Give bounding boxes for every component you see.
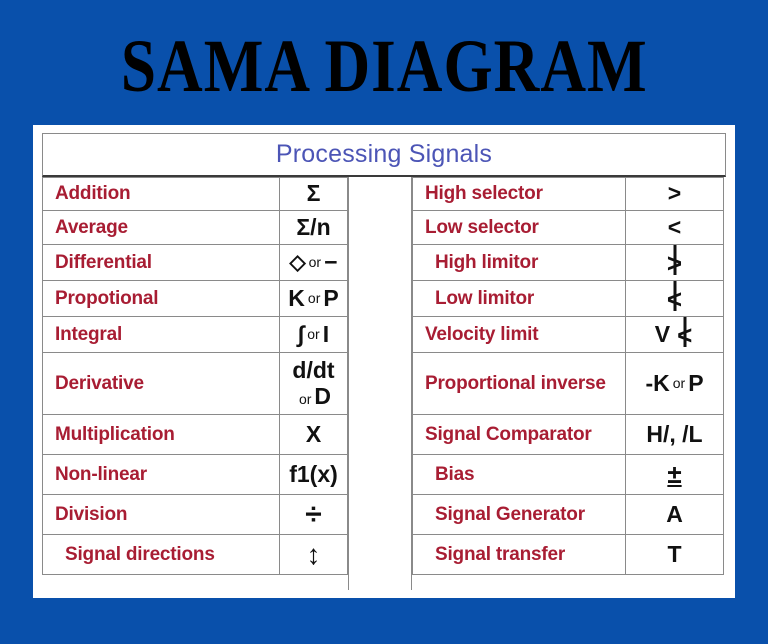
symbol-text: T xyxy=(667,542,681,567)
symbol-text-alt: D xyxy=(314,383,331,409)
row-label: Addition xyxy=(43,178,279,210)
row-label: High limitor xyxy=(413,245,625,280)
diagram-panel: Processing Signals Addition Σ Average Σ/ xyxy=(33,125,735,598)
table-row[interactable]: Bias ± xyxy=(412,455,724,495)
symbol-conjunction: or xyxy=(296,391,314,407)
symbol-text: ◇ xyxy=(289,251,305,274)
row-label: Differential xyxy=(43,245,279,280)
divide-symbol: ÷ xyxy=(279,495,347,534)
table-row[interactable]: Division ÷ xyxy=(42,495,348,535)
sigma-over-n-symbol: Σ/n xyxy=(279,211,347,244)
row-label: Low selector xyxy=(413,211,625,244)
d-dt-or-d-symbol: d/dt orD xyxy=(279,353,347,414)
h-l-comparator-symbol: H/, /L xyxy=(625,415,723,454)
page-title-text: SAMA DIAGRAM xyxy=(121,24,648,109)
symbol-text: > xyxy=(665,250,684,276)
symbol-conjunction: or xyxy=(670,376,688,391)
symbol-text: V xyxy=(655,322,670,347)
symbol-text: ÷ xyxy=(305,500,321,530)
table-row[interactable]: Derivative d/dt orD xyxy=(42,353,348,415)
table-row[interactable]: Differential ◇ or − xyxy=(42,245,348,281)
table-row[interactable]: Low selector < xyxy=(412,211,724,245)
row-label: Proportional inverse xyxy=(413,353,625,414)
f1x-symbol: f1(x) xyxy=(279,455,347,494)
table-row[interactable]: Low limitor < xyxy=(412,281,724,317)
row-label: Signal Comparator xyxy=(413,415,625,454)
a-symbol: A xyxy=(625,495,723,534)
multiply-symbol: X xyxy=(279,415,347,454)
row-label: Multiplication xyxy=(43,415,279,454)
symbol-text: Σ/n xyxy=(296,215,330,240)
symbol-text: d/dt xyxy=(292,358,334,383)
row-label: Velocity limit xyxy=(413,317,625,352)
symbol-text: K xyxy=(288,286,305,311)
neg-k-or-p-symbol: -K or P xyxy=(625,353,723,414)
v-struck-less-than-symbol: V < xyxy=(625,317,723,352)
sigma-symbol: Σ xyxy=(279,178,347,210)
table-header-label: Processing Signals xyxy=(276,140,492,169)
table-row[interactable]: High limitor > xyxy=(412,245,724,281)
row-label: Signal directions xyxy=(43,535,279,574)
integral-or-i-symbol: ∫ or I xyxy=(279,317,347,352)
table-row[interactable]: Velocity limit V < xyxy=(412,317,724,353)
symbol-text: A xyxy=(666,502,683,527)
table-row[interactable]: Multiplication X xyxy=(42,415,348,455)
symbol-text-alt: I xyxy=(323,322,329,347)
table-row[interactable]: High selector > xyxy=(412,177,724,211)
symbol-text: Σ xyxy=(307,181,321,206)
table-body: Addition Σ Average Σ/n Differential xyxy=(42,177,726,590)
row-label: Low limitor xyxy=(413,281,625,316)
symbol-text: ↕ xyxy=(307,541,321,569)
greater-than-symbol: > xyxy=(625,178,723,210)
table-row[interactable]: Propotional K or P xyxy=(42,281,348,317)
symbol-text: ± xyxy=(667,460,681,489)
symbol-text-alt: P xyxy=(688,371,703,396)
table-row[interactable]: Non-linear f1(x) xyxy=(42,455,348,495)
row-label: Derivative xyxy=(43,353,279,414)
row-label: Signal Generator xyxy=(413,495,625,534)
symbol-text-alt: − xyxy=(324,250,337,275)
page-root: SAMA DIAGRAM Processing Signals Addition… xyxy=(0,0,768,644)
left-column: Addition Σ Average Σ/n Differential xyxy=(42,177,348,590)
row-label: Non-linear xyxy=(43,455,279,494)
table-row[interactable]: Signal directions ↕ xyxy=(42,535,348,575)
row-label: Signal transfer xyxy=(413,535,625,574)
table-row[interactable]: Integral ∫ or I xyxy=(42,317,348,353)
page-title: SAMA DIAGRAM xyxy=(0,24,768,94)
table-row[interactable]: Signal Generator A xyxy=(412,495,724,535)
sama-symbol-table: Processing Signals Addition Σ Average Σ/ xyxy=(42,133,726,592)
struck-greater-than-symbol: > xyxy=(625,245,723,280)
symbol-conjunction: or xyxy=(304,327,322,342)
symbol-text-alt: P xyxy=(323,286,338,311)
table-row[interactable]: Average Σ/n xyxy=(42,211,348,245)
struck-less-than-symbol: < xyxy=(625,281,723,316)
up-down-arrow-symbol: ↕ xyxy=(279,535,347,574)
diamond-or-minus-symbol: ◇ or − xyxy=(279,245,347,280)
symbol-text: f1(x) xyxy=(289,462,338,487)
plus-minus-symbol: ± xyxy=(625,455,723,494)
row-label: Average xyxy=(43,211,279,244)
t-symbol: T xyxy=(625,535,723,574)
row-label: Division xyxy=(43,495,279,534)
symbol-conjunction: or xyxy=(306,255,324,270)
symbol-text: X xyxy=(306,422,321,447)
less-than-symbol: < xyxy=(625,211,723,244)
symbol-text: < xyxy=(668,215,681,240)
row-label: Integral xyxy=(43,317,279,352)
symbol-text-alt: < xyxy=(675,322,694,348)
table-row[interactable]: Proportional inverse -K or P xyxy=(412,353,724,415)
symbol-text: H/, /L xyxy=(646,422,702,447)
right-column: High selector > Low selector < High limi… xyxy=(412,177,724,590)
table-row[interactable]: Signal transfer T xyxy=(412,535,724,575)
row-label: High selector xyxy=(413,178,625,210)
symbol-conjunction: or xyxy=(305,291,323,306)
row-label: Bias xyxy=(413,455,625,494)
table-row[interactable]: Addition Σ xyxy=(42,177,348,211)
table-header: Processing Signals xyxy=(42,133,726,177)
row-label: Propotional xyxy=(43,281,279,316)
symbol-text: -K xyxy=(645,371,669,396)
k-or-p-symbol: K or P xyxy=(279,281,347,316)
column-spacer xyxy=(348,177,412,590)
symbol-text: < xyxy=(665,286,684,312)
symbol-text: > xyxy=(668,181,681,206)
table-row[interactable]: Signal Comparator H/, /L xyxy=(412,415,724,455)
